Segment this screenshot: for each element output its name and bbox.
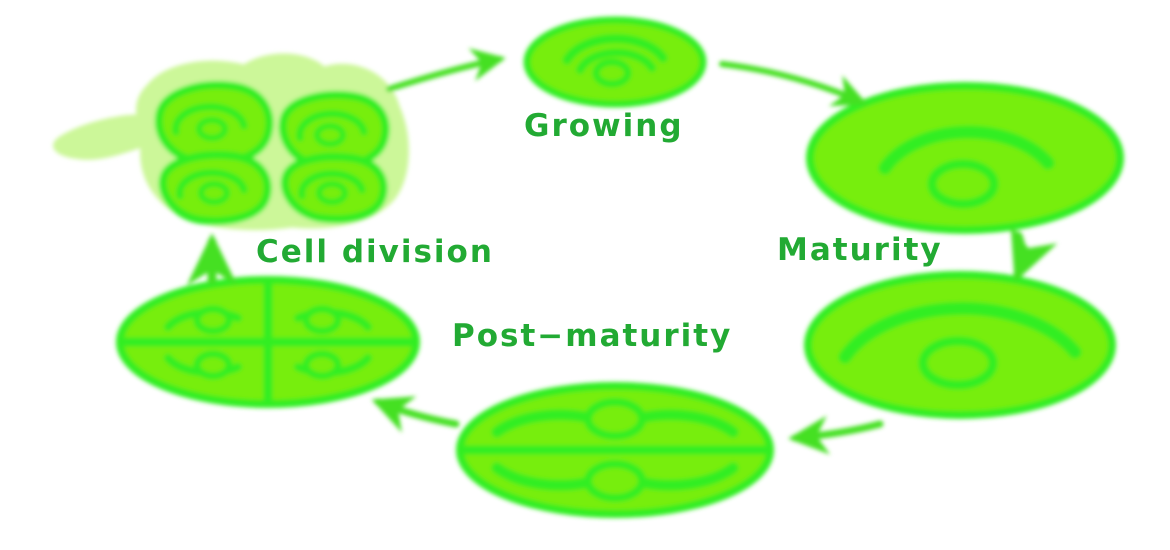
arrow-release-to-growing bbox=[389, 59, 500, 89]
arrow-post-maturity-to-division-two bbox=[795, 424, 880, 438]
daughter-cell-bottom-right bbox=[285, 157, 384, 219]
arrow-maturity-to-post-maturity bbox=[1018, 236, 1022, 274]
life-cycle-illustration bbox=[0, 0, 1170, 550]
arrow-division-two-to-division-four bbox=[378, 402, 456, 424]
stage-label-growing: Growing bbox=[524, 108, 684, 144]
arrow-growing-to-maturity bbox=[722, 64, 862, 102]
stage-shape-post-maturity bbox=[808, 275, 1112, 415]
stage-label-post-maturity: Post−maturity bbox=[452, 318, 732, 354]
stage-label-maturity: Maturity bbox=[777, 232, 943, 268]
stage-shape-growing bbox=[527, 20, 703, 104]
life-cycle-diagram: Growing Maturity Post−maturity Cell divi… bbox=[0, 0, 1170, 550]
stage-shape-division-two bbox=[460, 386, 770, 514]
daughter-cell-bottom-left bbox=[163, 155, 268, 221]
stage-shape-cell-division bbox=[55, 55, 408, 229]
stage-label-cell-division: Cell division bbox=[256, 234, 494, 270]
stage-shape-division-four bbox=[120, 280, 416, 404]
stage-shape-maturity bbox=[810, 86, 1120, 230]
